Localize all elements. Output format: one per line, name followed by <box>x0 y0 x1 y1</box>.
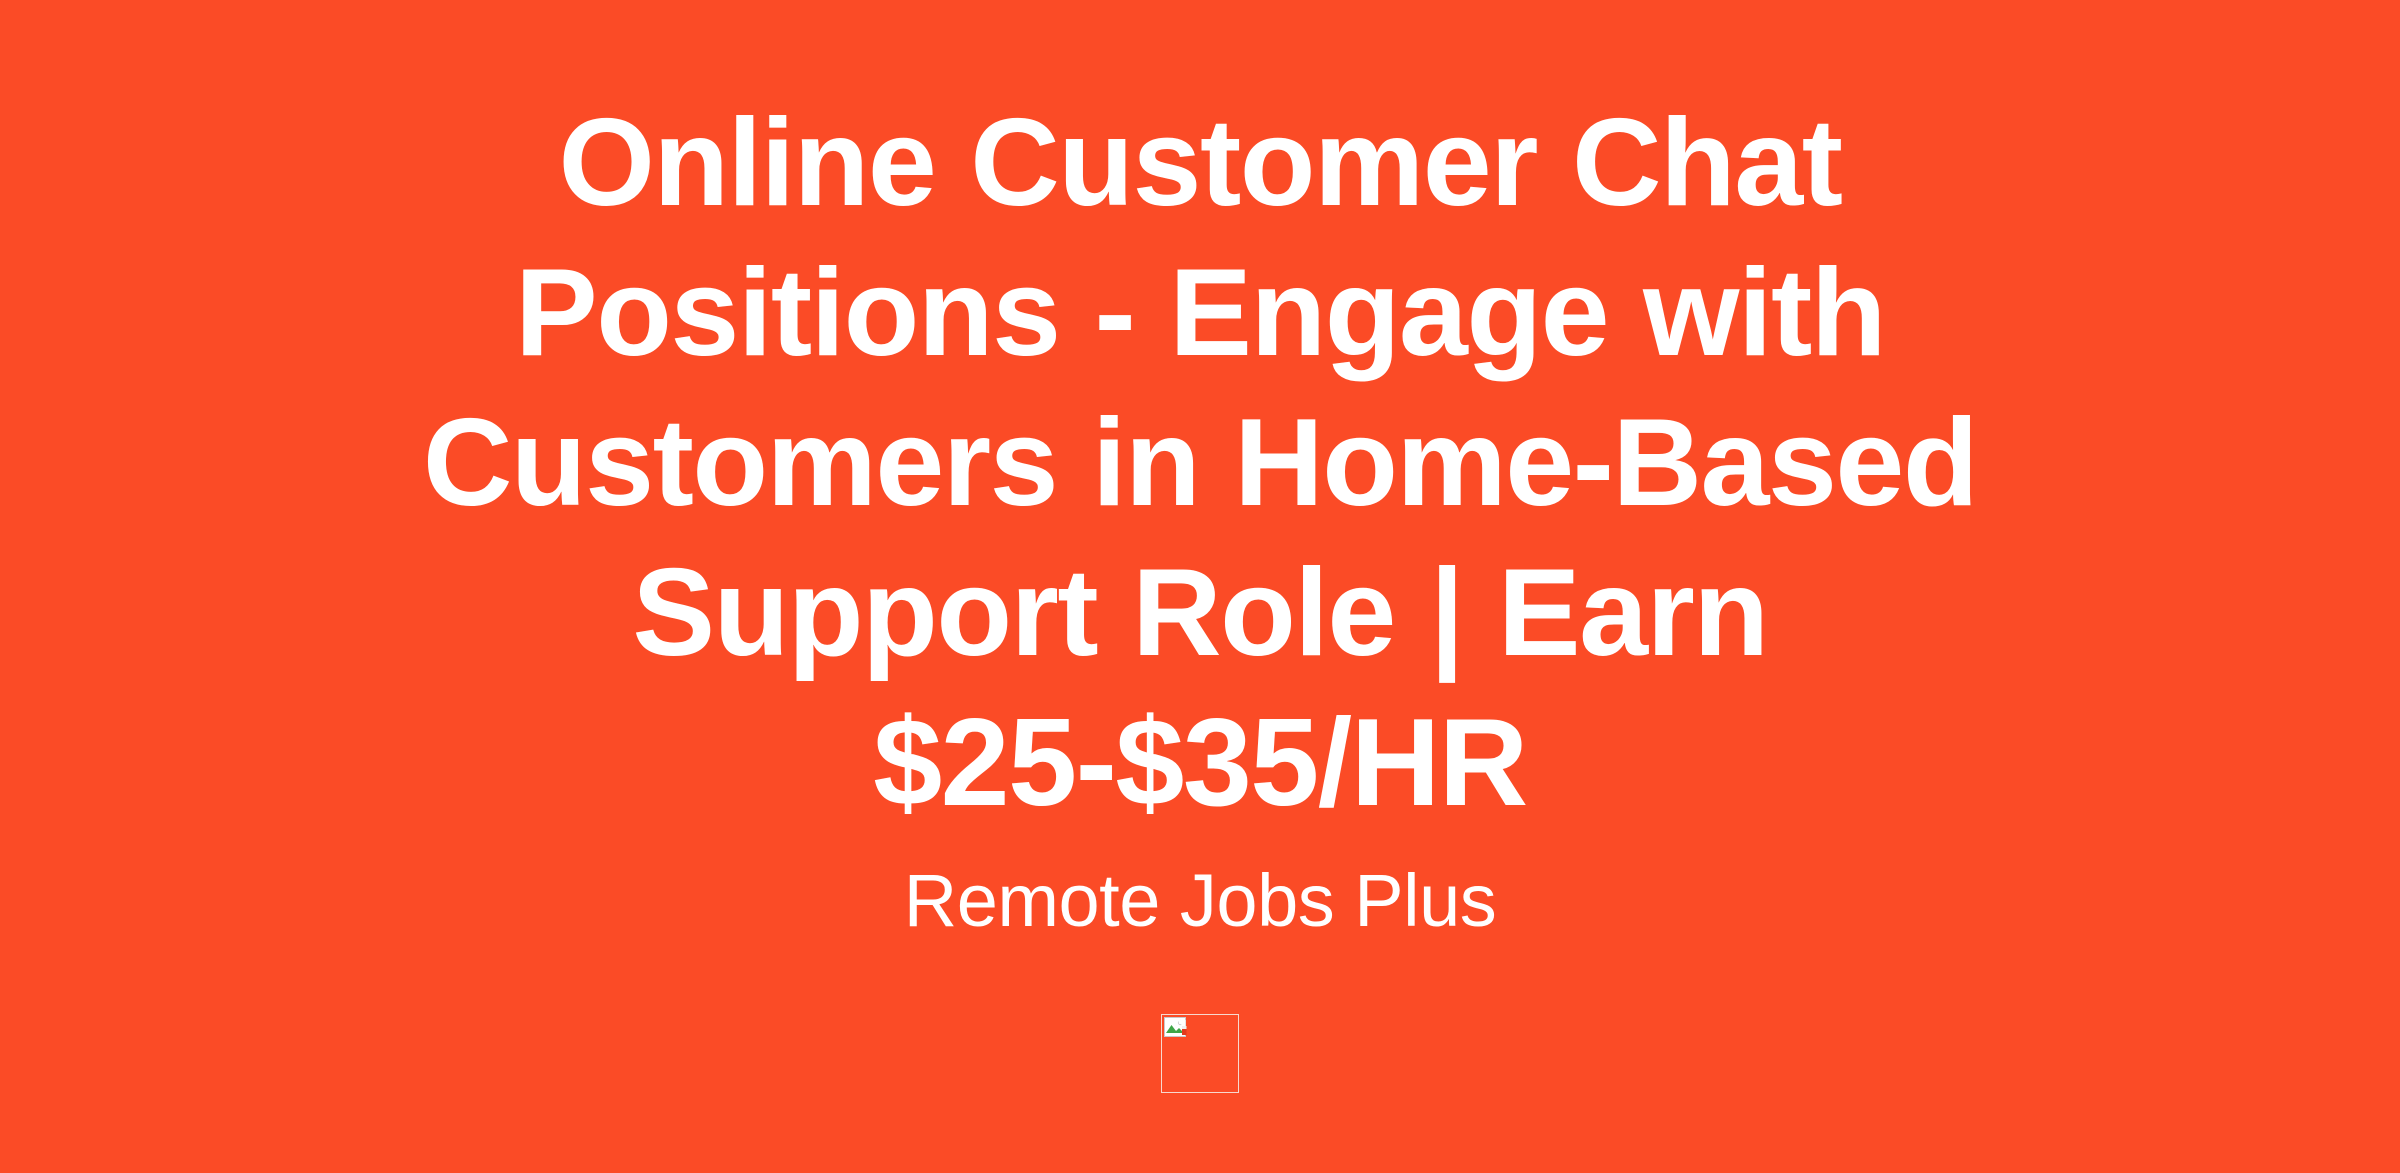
media-slot <box>0 1014 2400 1093</box>
page-root: Online Customer Chat Positions - Engage … <box>0 0 2400 1173</box>
broken-image-placeholder[interactable] <box>1161 1014 1239 1093</box>
page-title: Online Customer Chat Positions - Engage … <box>350 88 2050 838</box>
site-name-subtitle: Remote Jobs Plus <box>904 838 1497 944</box>
hero-section: Online Customer Chat Positions - Engage … <box>0 0 2400 1173</box>
broken-image-icon <box>1164 1017 1190 1041</box>
